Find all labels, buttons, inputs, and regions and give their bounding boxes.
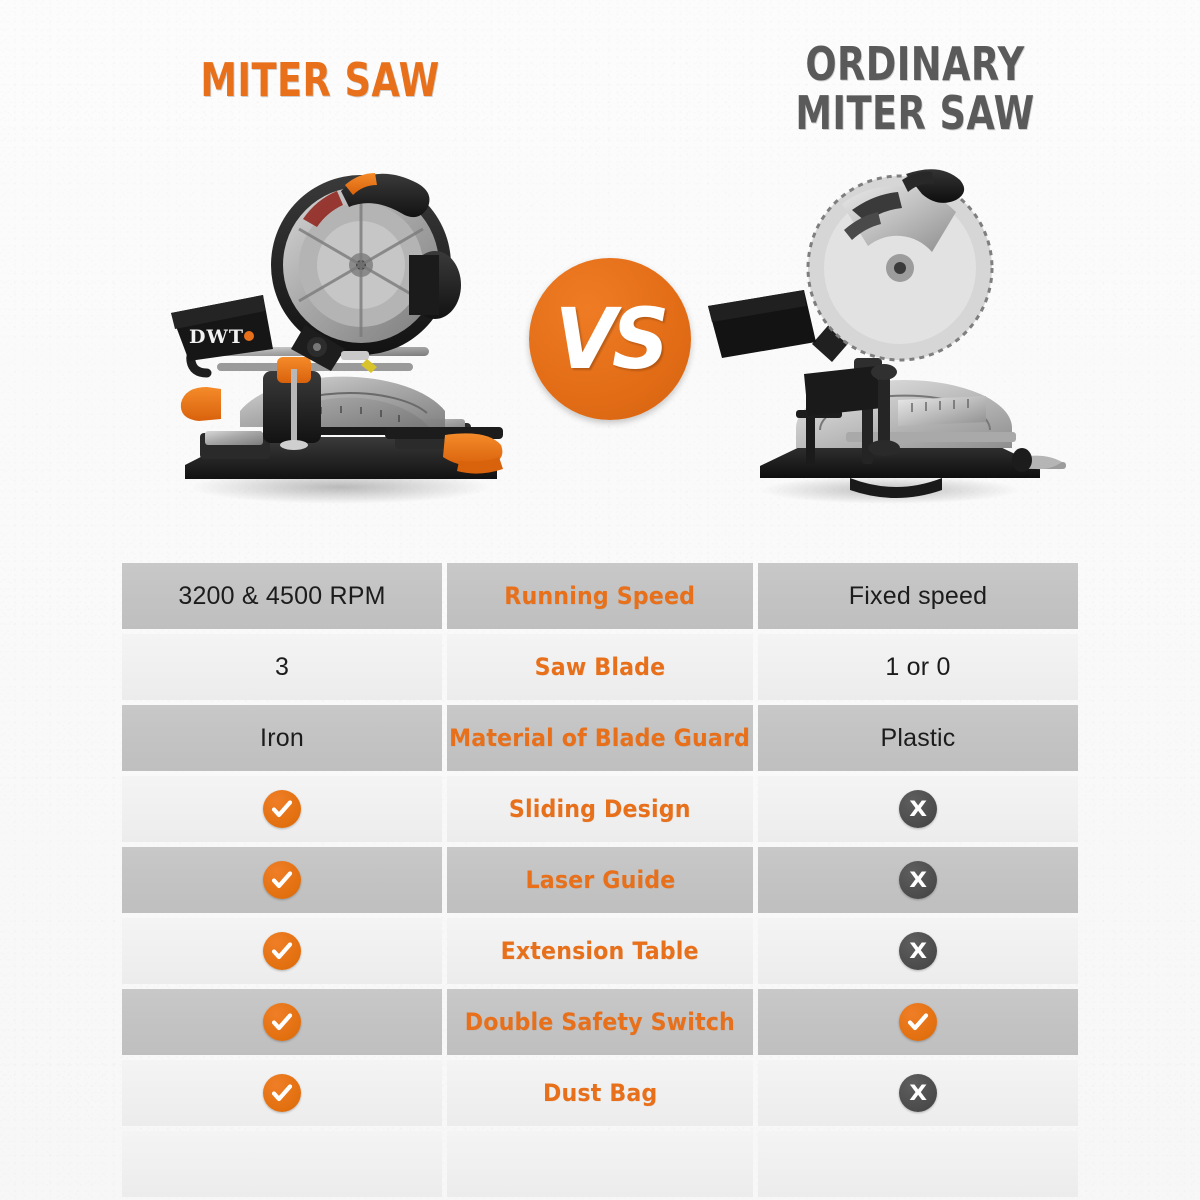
- row-5-right-cell: X: [758, 918, 1078, 984]
- vs-badge: VS: [529, 258, 691, 420]
- table-row: Sliding Design X: [122, 776, 1078, 842]
- cross-glyph: X: [909, 1083, 927, 1104]
- cross-icon: X: [899, 790, 937, 828]
- row-5-label-cell: Extension Table: [447, 918, 753, 984]
- row-7-feature-label: Dust Bag: [543, 1079, 657, 1107]
- row-0-left-value: 3200 & 4500 RPM: [178, 582, 385, 611]
- row-6-left-cell: [122, 989, 442, 1055]
- row-5-left-cell: [122, 918, 442, 984]
- row-3-feature-label: Sliding Design: [509, 795, 691, 823]
- row-4-left-cell: [122, 847, 442, 913]
- cross-icon: X: [899, 1074, 937, 1112]
- table-row: Double Safety Switch: [122, 989, 1078, 1055]
- row-0-left-cell: 3200 & 4500 RPM: [122, 563, 442, 629]
- row-2-right-cell: Plastic: [758, 705, 1078, 771]
- table-row: Iron Material of Blade Guard Plastic: [122, 705, 1078, 771]
- row-6-label-cell: Double Safety Switch: [447, 989, 753, 1055]
- table-row: 3200 & 4500 RPM Running Speed Fixed spee…: [122, 563, 1078, 629]
- row-1-left-value: 3: [275, 653, 289, 682]
- check-icon: [263, 861, 301, 899]
- row-7-left-cell: [122, 1060, 442, 1126]
- row-5-feature-label: Extension Table: [501, 937, 699, 965]
- row-8-right-cell: [758, 1131, 1078, 1197]
- table-row: Laser Guide X: [122, 847, 1078, 913]
- left-product-title: MITER SAW: [152, 56, 488, 105]
- table-row: Dust Bag X: [122, 1060, 1078, 1126]
- comparison-table: 3200 & 4500 RPM Running Speed Fixed spee…: [122, 563, 1078, 1200]
- row-3-right-cell: X: [758, 776, 1078, 842]
- row-6-feature-label: Double Safety Switch: [465, 1008, 735, 1036]
- row-2-left-value: Iron: [260, 724, 304, 753]
- right-product-title: ORDINARY MITER SAW: [747, 40, 1083, 138]
- left-product-image: DWT: [145, 135, 525, 515]
- row-4-right-cell: X: [758, 847, 1078, 913]
- row-8-left-cell: [122, 1131, 442, 1197]
- vs-label: VS: [555, 297, 665, 381]
- row-2-right-value: Plastic: [880, 724, 955, 753]
- svg-text:DWT: DWT: [189, 326, 244, 348]
- row-1-left-cell: 3: [122, 634, 442, 700]
- row-7-label-cell: Dust Bag: [447, 1060, 753, 1126]
- row-1-feature-label: Saw Blade: [535, 653, 666, 681]
- table-row: 3 Saw Blade 1 or 0: [122, 634, 1078, 700]
- cross-icon: X: [899, 861, 937, 899]
- row-4-label-cell: Laser Guide: [447, 847, 753, 913]
- right-product-image: [700, 160, 1070, 510]
- row-1-right-cell: 1 or 0: [758, 634, 1078, 700]
- check-icon: [263, 1074, 301, 1112]
- row-3-left-cell: [122, 776, 442, 842]
- row-7-right-cell: X: [758, 1060, 1078, 1126]
- cross-icon: X: [899, 932, 937, 970]
- table-row: Extension Table X: [122, 918, 1078, 984]
- row-1-label-cell: Saw Blade: [447, 634, 753, 700]
- row-1-right-value: 1 or 0: [885, 653, 950, 682]
- row-0-feature-label: Running Speed: [505, 582, 696, 610]
- row-4-feature-label: Laser Guide: [525, 866, 675, 894]
- cross-glyph: X: [909, 870, 927, 891]
- row-6-right-cell: [758, 989, 1078, 1055]
- row-3-label-cell: Sliding Design: [447, 776, 753, 842]
- row-0-right-cell: Fixed speed: [758, 563, 1078, 629]
- check-icon: [263, 1003, 301, 1041]
- row-0-right-value: Fixed speed: [849, 582, 987, 611]
- check-icon: [263, 790, 301, 828]
- row-0-label-cell: Running Speed: [447, 563, 753, 629]
- row-2-feature-label: Material of Blade Guard: [450, 724, 751, 752]
- hero-section: MITER SAW ORDINARY MITER SAW: [0, 0, 1200, 548]
- check-icon: [899, 1003, 937, 1041]
- row-2-label-cell: Material of Blade Guard: [447, 705, 753, 771]
- cross-glyph: X: [909, 941, 927, 962]
- table-row-empty: [122, 1131, 1078, 1197]
- row-2-left-cell: Iron: [122, 705, 442, 771]
- check-icon: [263, 932, 301, 970]
- row-8-label-cell: [447, 1131, 753, 1197]
- cross-glyph: X: [909, 799, 927, 820]
